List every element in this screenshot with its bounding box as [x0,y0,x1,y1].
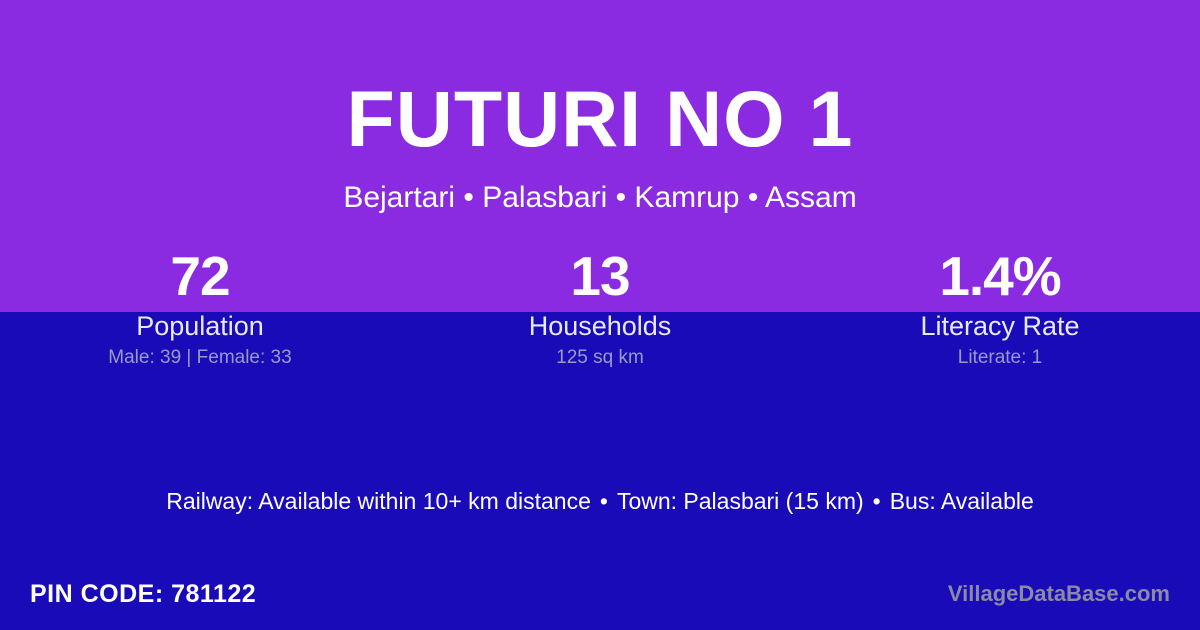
stat-population: 72 Population Male: 39 | Female: 33 [0,245,400,371]
stat-sublabel: Literate: 1 [800,345,1200,371]
page-title: FUTURI NO 1 [0,79,1200,158]
stat-label: Literacy Rate [800,307,1200,345]
stat-literacy-rate: 1.4% Literacy Rate Literate: 1 [800,245,1200,371]
infra-separator-icon: • [591,488,617,514]
stat-value: 13 [400,245,800,307]
pin-code: PIN CODE: 781122 [30,580,256,609]
stat-label: Households [400,307,800,345]
stat-value: 1.4% [800,245,1200,307]
village-info-card: FUTURI NO 1 Bejartari • Palasbari • Kamr… [0,0,1200,630]
infra-separator-icon: • [864,488,890,514]
footer: PIN CODE: 781122 VillageDataBase.com [0,574,1200,614]
stat-label: Population [0,307,400,345]
breadcrumb: Bejartari • Palasbari • Kamrup • Assam [0,183,1200,213]
stat-households: 13 Households 125 sq km [400,245,800,371]
infra-railway: Railway: Available within 10+ km distanc… [166,488,591,514]
stat-sublabel: 125 sq km [400,345,800,371]
infra-bus: Bus: Available [890,488,1034,514]
stat-sublabel: Male: 39 | Female: 33 [0,345,400,371]
infrastructure-line: Railway: Available within 10+ km distanc… [0,487,1200,515]
stats-row: 72 Population Male: 39 | Female: 33 13 H… [0,245,1200,371]
infra-town: Town: Palasbari (15 km) [617,488,864,514]
stat-value: 72 [0,245,400,307]
brand-watermark: VillageDataBase.com [948,581,1170,607]
